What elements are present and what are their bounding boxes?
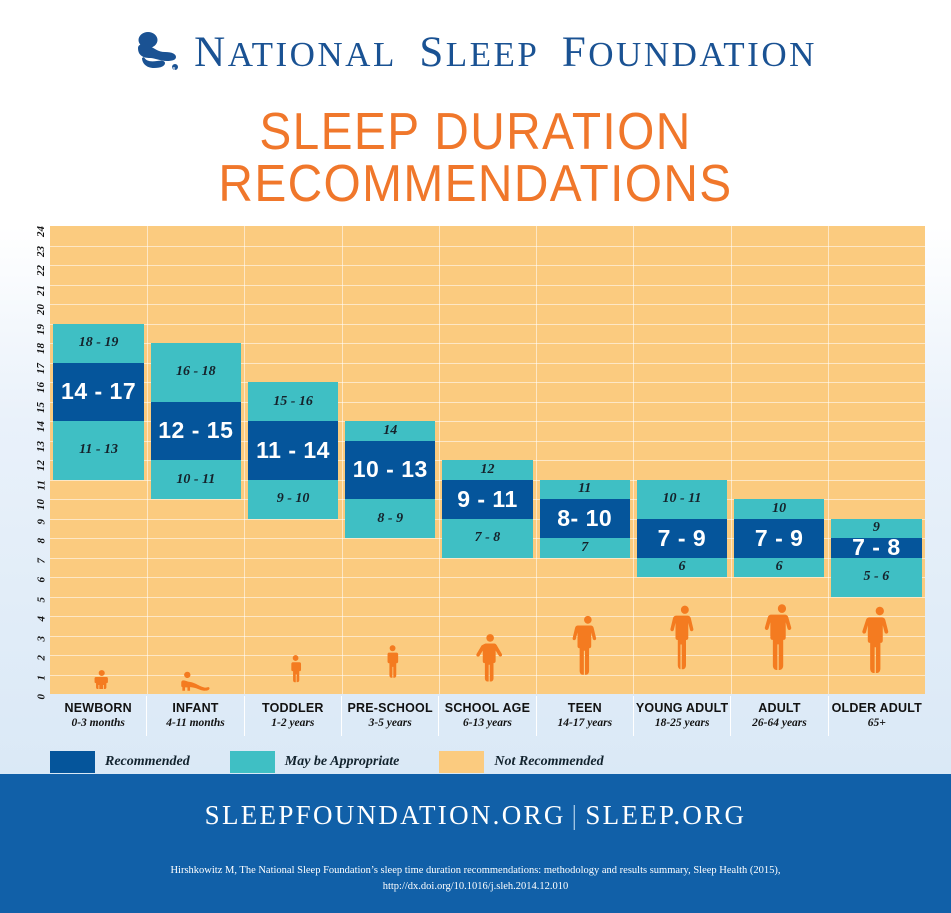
bar-segment-may-be-appropriate-upper: 18 - 19: [53, 324, 143, 363]
legend-item-not-recommended: Not Recommended: [439, 751, 603, 773]
x-axis-category-name: TEEN: [537, 701, 633, 715]
page-title: SLEEP DURATION RECOMMENDATIONS: [38, 100, 913, 226]
chart-plot-area: 18 - 1914 - 1711 - 1316 - 1812 - 1510 - …: [50, 226, 925, 694]
y-axis-tick: 20: [35, 304, 47, 315]
chart-legend: RecommendedMay be AppropriateNot Recomme…: [50, 751, 634, 773]
x-axis-category: OLDER ADULT65+: [829, 696, 925, 736]
legend-item-may-be-appropriate: May be Appropriate: [230, 751, 400, 773]
teen-icon: [536, 598, 633, 694]
grid-line-horizontal: [50, 304, 925, 305]
bar-segment-may-be-appropriate-upper: 15 - 16: [248, 382, 338, 421]
y-axis-tick: 10: [35, 499, 47, 510]
y-axis-tick: 16: [35, 382, 47, 393]
y-axis-tick: 18: [35, 343, 47, 354]
bar-segment-recommended: 11 - 14: [248, 421, 338, 480]
x-axis-category-name: NEWBORN: [50, 701, 146, 715]
y-axis-tick: 21: [35, 285, 47, 296]
y-axis-tick: 12: [35, 460, 47, 471]
x-axis-category-age: 26-64 years: [731, 717, 827, 729]
y-axis-tick: 14: [35, 421, 47, 432]
infant-icon: [147, 666, 244, 694]
x-axis-category-name: ADULT: [731, 701, 827, 715]
young-adult-icon: [633, 586, 730, 694]
y-axis-tick: 6: [35, 577, 47, 583]
bar-segment-may-be-appropriate-lower: 9 - 10: [248, 480, 338, 519]
x-axis-category-age: 6-13 years: [439, 717, 535, 729]
grid-line-horizontal: [50, 324, 925, 325]
brand-name: NATIONAL SLEEP FOUNDATION: [194, 28, 817, 77]
bar-segment-recommended: 7 - 9: [734, 519, 824, 558]
x-axis-category-age: 0-3 months: [50, 717, 146, 729]
y-axis-tick: 9: [35, 519, 47, 525]
sleeping-baby-logo-icon: R: [134, 30, 180, 74]
y-axis-tick: 13: [35, 441, 47, 452]
bar-segment-recommended: 10 - 13: [345, 441, 435, 500]
school-age-icon: [439, 622, 536, 694]
x-axis-category: NEWBORN0-3 months: [50, 696, 147, 736]
grid-line-horizontal: [50, 265, 925, 266]
citation-line-2[interactable]: http://dx.doi.org/10.1016/j.sleh.2014.12…: [0, 879, 951, 895]
x-axis-category-name: SCHOOL AGE: [439, 701, 535, 715]
x-axis-category-name: INFANT: [147, 701, 243, 715]
y-axis-tick: 23: [35, 246, 47, 257]
bar-segment-may-be-appropriate-lower: 8 - 9: [345, 499, 435, 538]
bar-segment-may-be-appropriate-lower: 6: [734, 558, 824, 578]
url-separator: |: [566, 800, 586, 830]
y-axis-tick: 0: [35, 694, 47, 700]
y-axis-tick: 8: [35, 538, 47, 544]
bar-segment-may-be-appropriate-upper: 11: [540, 480, 630, 500]
x-axis-category-age: 4-11 months: [147, 717, 243, 729]
bar-segment-may-be-appropriate-lower: 6: [637, 558, 727, 578]
legend-label-recommended: Recommended: [105, 754, 190, 770]
y-axis-tick: 22: [35, 265, 47, 276]
x-axis-category: SCHOOL AGE6-13 years: [439, 696, 536, 736]
bar-segment-recommended: 8- 10: [540, 499, 630, 538]
bar-segment-recommended: 7 - 8: [831, 538, 921, 558]
y-axis-tick: 24: [35, 226, 47, 237]
y-axis-tick: 7: [35, 558, 47, 564]
legend-label-not-recommended: Not Recommended: [494, 754, 603, 770]
y-axis-tick: 11: [35, 480, 47, 490]
bar-segment-may-be-appropriate-lower: 7 - 8: [442, 519, 532, 558]
x-axis-category-age: 18-25 years: [634, 717, 730, 729]
x-axis-category-name: TODDLER: [245, 701, 341, 715]
y-axis-tick: 2: [35, 655, 47, 661]
bar-segment-recommended: 7 - 9: [637, 519, 727, 558]
footer: SLEEPFOUNDATION.ORG|SLEEP.ORG Hirshkowit…: [0, 774, 951, 913]
grid-line-horizontal: [50, 246, 925, 247]
x-axis-category: TEEN14-17 years: [537, 696, 634, 736]
x-axis-category-name: PRE-SCHOOL: [342, 701, 438, 715]
older-adult-icon: [828, 590, 925, 694]
link-sleep-org[interactable]: SLEEP.ORG: [585, 800, 746, 830]
citation: Hirshkowitz M, The National Sleep Founda…: [0, 863, 951, 896]
x-axis-category-age: 14-17 years: [537, 717, 633, 729]
x-axis-category-age: 3-5 years: [342, 717, 438, 729]
x-axis-category: TODDLER1-2 years: [245, 696, 342, 736]
grid-line-horizontal: [50, 285, 925, 286]
grid-line-horizontal: [50, 577, 925, 578]
y-axis-tick: 17: [35, 363, 47, 374]
link-sleepfoundation-org[interactable]: SLEEPFOUNDATION.ORG: [205, 800, 566, 830]
chart-panel: HOURS OF SLEEP 0123456789101112131415161…: [0, 226, 951, 804]
x-axis-category-name: YOUNG ADULT: [634, 701, 730, 715]
x-axis-category: INFANT4-11 months: [147, 696, 244, 736]
preschooler-icon: [342, 630, 439, 694]
y-axis-tick: 19: [35, 324, 47, 335]
bar-segment-recommended: 12 - 15: [151, 402, 241, 461]
x-axis-category-age: 65+: [829, 717, 925, 729]
bar-segment-recommended: 14 - 17: [53, 363, 143, 422]
x-axis-category: PRE-SCHOOL3-5 years: [342, 696, 439, 736]
bar-segment-may-be-appropriate-lower: 7: [540, 538, 630, 558]
y-axis-tick: 5: [35, 597, 47, 603]
footer-urls: SLEEPFOUNDATION.ORG|SLEEP.ORG: [0, 774, 951, 831]
bar-segment-may-be-appropriate-lower: 11 - 13: [53, 421, 143, 480]
brand-header: R NATIONAL SLEEP FOUNDATION: [0, 0, 951, 100]
adult-icon: [731, 586, 828, 694]
legend-swatch-may-be-appropriate: [230, 751, 275, 773]
legend-swatch-not-recommended: [439, 751, 484, 773]
newborn-icon: [50, 660, 147, 694]
bar-segment-may-be-appropriate-lower: 10 - 11: [151, 460, 241, 499]
bar-segment-may-be-appropriate-upper: 16 - 18: [151, 343, 241, 402]
bar-segment-may-be-appropriate-upper: 10: [734, 499, 824, 519]
x-axis-category-name: OLDER ADULT: [829, 701, 925, 715]
legend-label-may-be-appropriate: May be Appropriate: [285, 754, 400, 770]
legend-swatch-recommended: [50, 751, 95, 773]
bar-segment-may-be-appropriate-upper: 14: [345, 421, 435, 441]
y-axis: HOURS OF SLEEP 0123456789101112131415161…: [0, 226, 50, 694]
y-axis-tick: 1: [35, 675, 47, 681]
bar-segment-recommended: 9 - 11: [442, 480, 532, 519]
x-axis-category-age: 1-2 years: [245, 717, 341, 729]
grid-line-vertical: [244, 226, 245, 694]
y-axis-tick: 15: [35, 402, 47, 413]
x-axis-labels: NEWBORN0-3 monthsINFANT4-11 monthsTODDLE…: [50, 696, 925, 736]
citation-line-1: Hirshkowitz M, The National Sleep Founda…: [0, 863, 951, 879]
x-axis-category: YOUNG ADULT18-25 years: [634, 696, 731, 736]
toddler-icon: [244, 642, 341, 694]
y-axis-tick: 3: [35, 636, 47, 642]
x-axis-category: ADULT26-64 years: [731, 696, 828, 736]
y-axis-tick: 4: [35, 616, 47, 622]
bar-segment-may-be-appropriate-upper: 10 - 11: [637, 480, 727, 519]
bar-segment-may-be-appropriate-upper: 12: [442, 460, 532, 480]
grid-line-vertical: [147, 226, 148, 694]
grid-line-vertical: [342, 226, 343, 694]
legend-item-recommended: Recommended: [50, 751, 190, 773]
